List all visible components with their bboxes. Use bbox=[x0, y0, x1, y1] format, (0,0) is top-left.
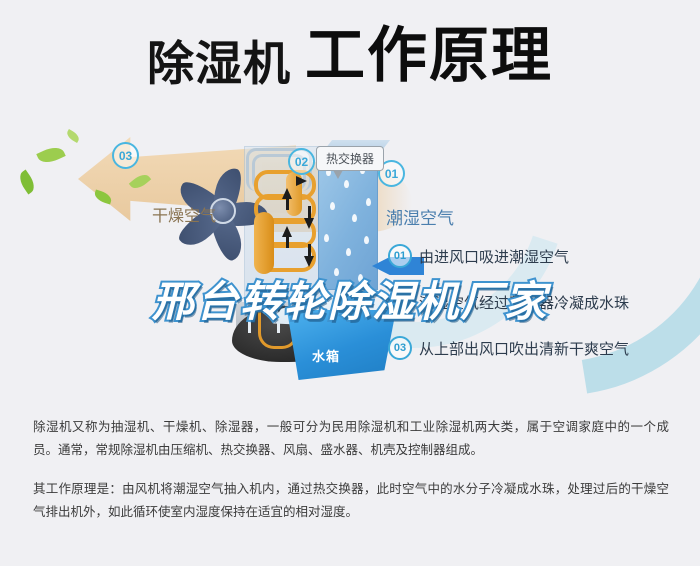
step-text: 由进风口吸进潮湿空气 bbox=[419, 246, 569, 267]
step-item: 03 从上部出风口吹出清新干爽空气 bbox=[388, 336, 688, 360]
step-number-badge: 01 bbox=[388, 244, 412, 268]
flow-arrow-up-icon bbox=[282, 188, 292, 199]
step-item: 02 潮湿空气经过蒸发器冷凝成水珠 bbox=[388, 290, 688, 314]
step-list: 01 由进风口吸进潮湿空气 02 潮湿空气经过蒸发器冷凝成水珠 03 从上部出风… bbox=[388, 244, 688, 382]
flow-arrow-up-icon bbox=[282, 226, 292, 237]
water-droplet-icon bbox=[330, 202, 335, 210]
page-title: 除湿机工作原理 bbox=[0, 26, 700, 87]
water-droplet-icon bbox=[366, 198, 371, 206]
humid-air-label: 潮湿空气 bbox=[386, 204, 454, 229]
flow-arrow-stem bbox=[308, 244, 311, 256]
leaf-icon bbox=[16, 170, 38, 195]
flow-arrow-right-icon bbox=[296, 176, 307, 186]
water-droplet-icon bbox=[324, 234, 329, 242]
heat-exchanger-callout: 热交换器 bbox=[316, 146, 384, 171]
water-tank-label: 水箱 bbox=[312, 346, 340, 365]
water-droplet-icon bbox=[346, 248, 351, 256]
water-droplet-icon bbox=[352, 214, 357, 222]
evaporator-fins bbox=[318, 156, 378, 290]
flow-arrow-down-icon bbox=[304, 256, 314, 267]
water-droplet-icon bbox=[334, 268, 339, 276]
water-droplet-icon bbox=[364, 236, 369, 244]
flow-arrow-stem bbox=[286, 198, 289, 210]
drum-pipe bbox=[248, 304, 280, 333]
compressor-cylinder bbox=[254, 212, 274, 274]
body-paragraph-2: 其工作原理是：由风机将潮湿空气抽入机内，通过热交换器，此时空气中的水分子冷凝成水… bbox=[33, 478, 669, 524]
water-droplet-icon bbox=[344, 180, 349, 188]
water-tank bbox=[280, 310, 396, 380]
leaf-icon bbox=[65, 129, 81, 143]
flow-arrow-stem bbox=[308, 206, 311, 218]
step-text: 从上部出风口吹出清新干爽空气 bbox=[419, 338, 629, 359]
step-text: 潮湿空气经过蒸发器冷凝成水珠 bbox=[419, 292, 629, 313]
flow-arrow-stem bbox=[286, 236, 289, 248]
dry-air-label: 干燥空气 bbox=[152, 202, 216, 226]
step-item: 01 由进风口吸进潮湿空气 bbox=[388, 244, 688, 268]
article-body: 除湿机又称为抽湿机、干燥机、除湿器，一般可分为民用除湿机和工业除湿机两大类，属于… bbox=[33, 416, 669, 541]
infographic-page: 除湿机工作原理 bbox=[0, 0, 700, 566]
body-paragraph-1: 除湿机又称为抽湿机、干燥机、除湿器，一般可分为民用除湿机和工业除湿机两大类，属于… bbox=[33, 416, 669, 462]
page-title-primary: 除湿机 bbox=[147, 37, 291, 90]
step-number-badge: 03 bbox=[388, 336, 412, 360]
diagram-badge-03: 03 bbox=[112, 142, 139, 169]
leaf-icon bbox=[36, 143, 65, 167]
step-number-badge: 02 bbox=[388, 290, 412, 314]
page-title-secondary: 工作原理 bbox=[305, 22, 553, 89]
diagram-badge-02: 02 bbox=[288, 148, 315, 175]
water-droplet-icon bbox=[358, 274, 363, 282]
flow-arrow-down-icon bbox=[304, 218, 314, 229]
